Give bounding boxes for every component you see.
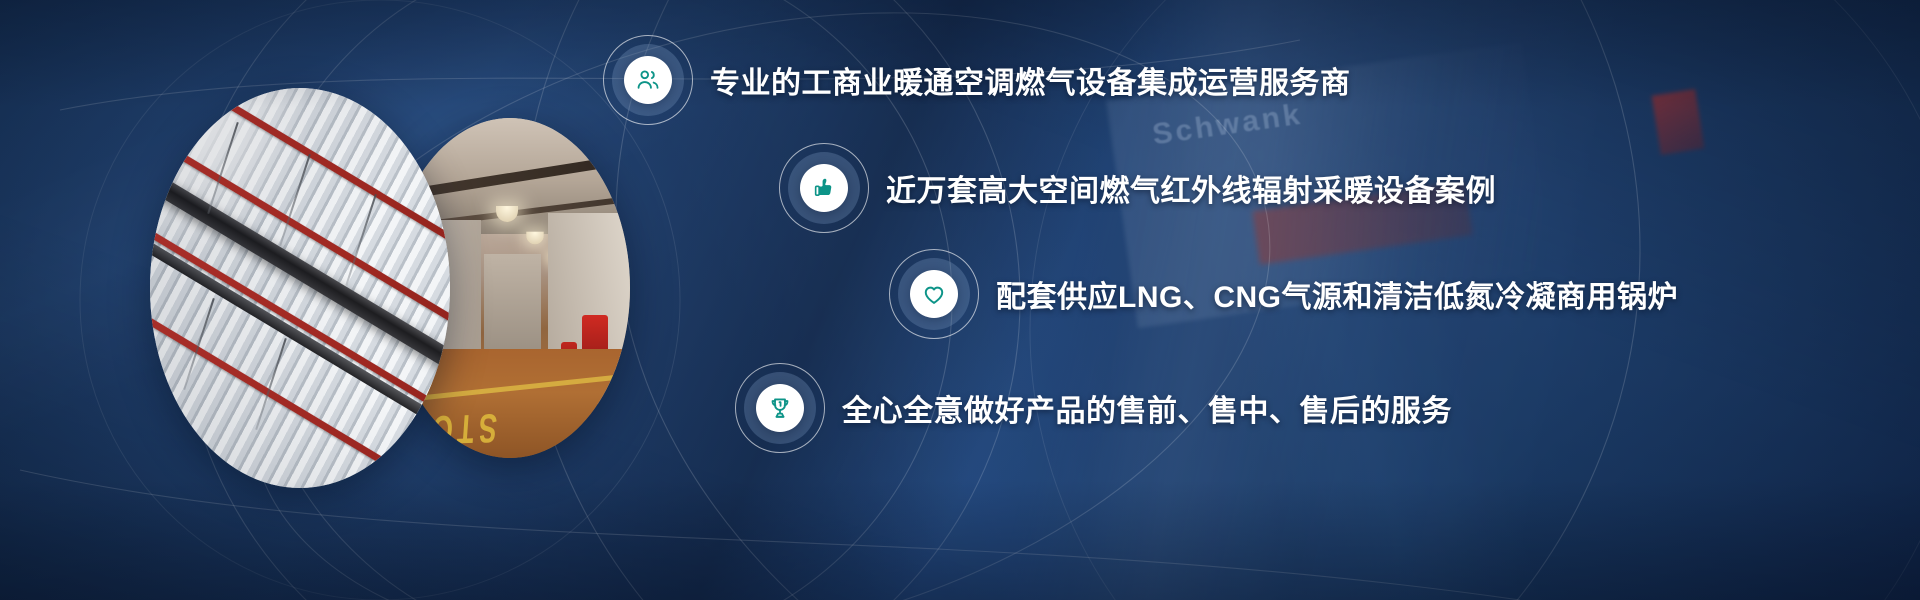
badge-disc: [910, 270, 958, 318]
heart-icon: [921, 281, 947, 307]
feature-badge-2: [788, 152, 860, 224]
feature-item-2[interactable]: 近万套高大空间燃气红外线辐射采暖设备案例: [788, 152, 1496, 224]
feature-badge-1: [612, 44, 684, 116]
thumbs-up-icon: [811, 175, 837, 201]
feature-text-4: 全心全意做好产品的售前、售中、售后的服务: [842, 386, 1452, 430]
feature-text-3: 配套供应LNG、CNG气源和清洁低氮冷凝商用锅炉: [996, 272, 1678, 316]
feature-text-1: 专业的工商业暖通空调燃气设备集成运营服务商: [710, 58, 1351, 102]
trophy-icon: [767, 395, 793, 421]
feature-item-3[interactable]: 配套供应LNG、CNG气源和清洁低氮冷凝商用锅炉: [898, 258, 1678, 330]
feature-badge-4: [744, 372, 816, 444]
badge-disc: [624, 56, 672, 104]
feature-badge-3: [898, 258, 970, 330]
feature-item-4[interactable]: 全心全意做好产品的售前、售中、售后的服务: [744, 372, 1452, 444]
badge-disc: [800, 164, 848, 212]
feature-list: 专业的工商业暖通空调燃气设备集成运营服务商 近万套高大空间燃气红外线辐射采暖设备…: [0, 0, 1920, 600]
users-icon: [635, 67, 661, 93]
badge-disc: [756, 384, 804, 432]
feature-banner: Schwank: [0, 0, 1920, 600]
feature-text-2: 近万套高大空间燃气红外线辐射采暖设备案例: [886, 166, 1496, 210]
feature-item-1[interactable]: 专业的工商业暖通空调燃气设备集成运营服务商: [612, 44, 1351, 116]
